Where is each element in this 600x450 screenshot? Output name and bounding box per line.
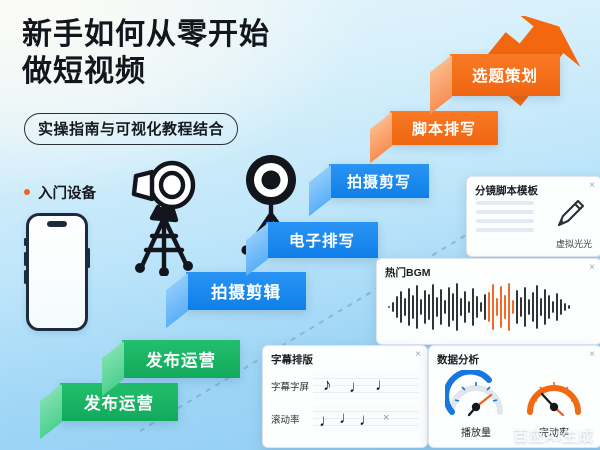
note-staff: ♩ ♩ ♩ × bbox=[313, 405, 419, 433]
step-label: 拍摄剪写 bbox=[347, 171, 411, 192]
subtitle-pill: 实操指南与可视化教程结合 bbox=[24, 113, 238, 145]
gauge-play-count: 播放量 bbox=[445, 370, 507, 439]
step-publish-operate-1[interactable]: 发布运营 bbox=[60, 383, 178, 421]
close-icon[interactable]: × bbox=[589, 181, 595, 191]
row-end-mark: × bbox=[383, 413, 389, 424]
phone-notch bbox=[47, 221, 67, 227]
step-label: 发布运营 bbox=[84, 390, 154, 414]
row-label: 字幕字屏 bbox=[271, 379, 313, 393]
entry-device-label: 入门设备 bbox=[24, 182, 96, 203]
step-riser bbox=[370, 112, 392, 163]
quarter-note-icon: ♩ bbox=[375, 376, 392, 393]
note-staff: ♪ ♩ ♩ bbox=[313, 372, 419, 400]
phone-button bbox=[24, 238, 27, 246]
card-title: 字幕排版 bbox=[271, 352, 419, 367]
close-icon[interactable]: × bbox=[589, 350, 595, 360]
gauge-icon bbox=[523, 370, 585, 418]
quarter-note-icon: ♩ bbox=[359, 411, 376, 428]
card-title: 热门BGM bbox=[385, 265, 593, 280]
step-electronic-layout[interactable]: 电子排写 bbox=[266, 222, 378, 258]
watermark: 百应AI生成 bbox=[513, 425, 594, 446]
quarter-note-icon: ♩ bbox=[339, 409, 356, 426]
step-label: 拍摄剪辑 bbox=[211, 279, 281, 303]
step-label: 选题策划 bbox=[472, 64, 538, 86]
step-publish-operate-2[interactable]: 发布运营 bbox=[122, 340, 240, 378]
close-icon[interactable]: × bbox=[589, 263, 595, 273]
close-icon[interactable]: × bbox=[415, 350, 421, 360]
entry-device-text: 入门设备 bbox=[38, 186, 96, 202]
phone-button bbox=[87, 248, 90, 268]
row-label: 滚动率 bbox=[271, 412, 313, 426]
quarter-note-icon: ♩ bbox=[319, 412, 336, 429]
typography-row: 字幕字屏 ♪ ♩ ♩ bbox=[271, 372, 419, 400]
step-riser bbox=[430, 55, 452, 114]
card-caption: 虚拟光光 bbox=[556, 237, 592, 250]
step-label: 发布运营 bbox=[146, 347, 216, 371]
step-label: 脚本排写 bbox=[412, 118, 476, 139]
title-line-2: 做短视频 bbox=[22, 53, 270, 90]
pencil-icon bbox=[553, 197, 587, 231]
placeholder-lines bbox=[476, 201, 534, 237]
step-shoot-edit[interactable]: 拍摄剪辑 bbox=[186, 272, 306, 310]
card-hot-bgm[interactable]: 热门BGM × bbox=[376, 258, 600, 345]
step-script-writing[interactable]: 脚本排写 bbox=[390, 111, 498, 145]
step-topic-planning[interactable]: 选题策划 bbox=[450, 54, 560, 96]
gauge-label: 播放量 bbox=[445, 424, 507, 439]
step-shoot-write[interactable]: 拍摄剪写 bbox=[329, 164, 429, 198]
quarter-note-icon: ♩ bbox=[349, 378, 366, 395]
title-line-1: 新手如何从零开始 bbox=[22, 18, 270, 51]
infographic-canvas: 新手如何从零开始 做短视频 实操指南与可视化教程结合 入门设备 bbox=[0, 0, 600, 450]
smartphone-icon bbox=[26, 213, 88, 331]
card-title: 数据分析 bbox=[437, 352, 593, 367]
phone-button bbox=[24, 252, 27, 266]
page-title: 新手如何从零开始 做短视频 bbox=[22, 16, 270, 90]
eighth-note-icon: ♪ bbox=[323, 376, 332, 393]
step-riser bbox=[40, 384, 62, 439]
typography-row: 滚动率 ♩ ♩ ♩ × bbox=[271, 405, 419, 433]
waveform-icon bbox=[385, 283, 577, 331]
camera-tripod-icon bbox=[112, 158, 216, 276]
step-label: 电子排写 bbox=[289, 229, 355, 251]
card-storyboard-template[interactable]: 分镜脚本模板 × 虚拟光光 bbox=[466, 176, 600, 257]
gauge-icon bbox=[445, 370, 507, 418]
card-title: 分镜脚本模板 bbox=[475, 183, 593, 198]
phone-button bbox=[24, 270, 27, 284]
card-subtitle-typography[interactable]: 字幕排版 × 字幕字屏 ♪ ♩ ♩ 滚动率 ♩ ♩ ♩ × bbox=[262, 345, 428, 448]
step-riser bbox=[166, 273, 188, 328]
